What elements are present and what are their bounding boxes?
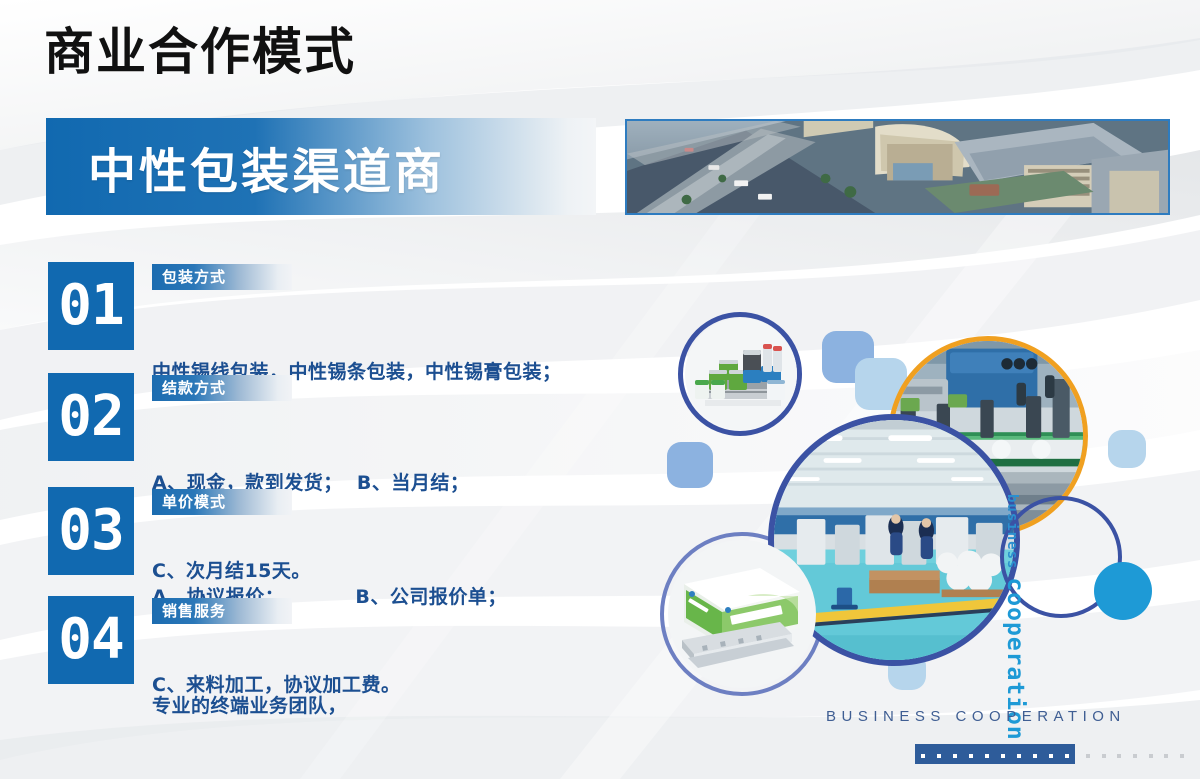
dot [1080,745,1096,763]
dot [915,745,931,763]
dot [1159,745,1175,763]
solder-bar-package-photo [668,540,816,688]
dot [1027,745,1043,763]
desc-line: 专业的终端业务团队， [152,692,682,721]
product-cans-photo [685,318,797,430]
dot [1011,745,1027,763]
decor-solid-circle [1094,562,1152,620]
item-tag: 结款方式 [152,375,292,401]
dot [947,745,963,763]
dot [995,745,1011,763]
item-tag: 单价模式 [152,489,292,515]
dot [979,745,995,763]
dot [1143,745,1159,763]
dot [1174,745,1190,763]
vertical-brand-text: business cooperation [1002,494,1028,741]
dot [1096,745,1112,763]
item-body: 销售服务 专业的终端业务团队， 由 总经理赖高平 13556798819 亲自安… [152,596,682,779]
item-number-badge: 02 [48,373,134,461]
decor-dot-tail [1080,744,1190,764]
list-item: 04 销售服务 专业的终端业务团队， 由 总经理赖高平 13556798819 … [48,596,682,779]
poster-root: 商业合作模式 中性包装渠道商 [0,0,1200,779]
item-number-badge: 03 [48,487,134,575]
banner-title: 中性包装渠道商 [88,132,445,202]
vertical-text-business: business [1004,494,1020,569]
dot [1059,745,1075,763]
decor-dot-bar [915,744,1075,764]
dot [963,745,979,763]
dot [1111,745,1127,763]
item-tag: 包装方式 [152,264,292,290]
item-number-badge: 04 [48,596,134,684]
item-tag: 销售服务 [152,598,292,624]
dot [931,745,947,763]
item-number-badge: 01 [48,262,134,350]
bottom-caption: BUSINESS COOPERATION [826,708,1126,725]
decor-rounded-square [1108,430,1146,468]
aerial-campus-photo [625,119,1170,215]
page-title: 商业合作模式 [44,22,356,82]
decor-rounded-square [667,442,713,488]
item-description: 专业的终端业务团队， 由 总经理赖高平 13556798819 亲自安排合适人员… [152,633,682,779]
dot [1043,745,1059,763]
dot [1127,745,1143,763]
banner: 中性包装渠道商 [46,118,596,215]
